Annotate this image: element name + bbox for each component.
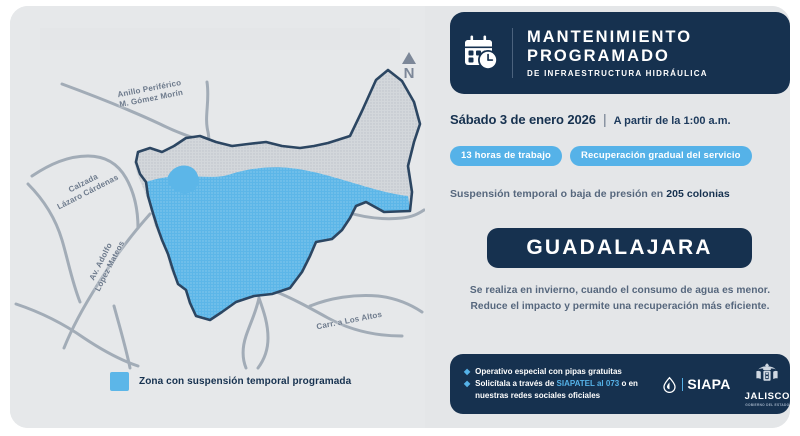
siapa-divider [682,378,684,391]
jalisco-coat-of-arms-icon [753,362,781,386]
header-title-line1: MANTENIMIENTO [527,28,708,46]
water-drop-icon [661,376,678,393]
bullet-icon: ◆ [464,366,470,377]
map-panel: Anillo Periférico M. Gómez Morín Calzada… [10,6,425,428]
header-title-line2: PROGRAMADO [527,47,708,65]
jalisco-subtitle: GOBIERNO DEL ESTADO [745,403,790,407]
impact-count: 205 colonias [666,188,730,200]
pill-gradual-recovery-label: Recuperación gradual del servicio [581,150,741,161]
footer-item-2-highlight[interactable]: SIAPATEL al 073 [557,379,620,388]
compass-label: N [397,66,421,81]
footer-item-2-text: Solicítala a través de SIAPATEL al 073 o… [475,378,657,400]
schedule-separator: | [603,111,607,127]
jalisco-logo: JALISCO GOBIERNO DEL ESTADO [745,362,790,407]
description-text: Se realiza en invierno, cuando el consum… [467,283,773,315]
north-arrow-icon [402,52,416,64]
legend-swatch-icon [110,372,129,391]
info-panel: MANTENIMIENTO PROGRAMADO DE INFRAESTRUCT… [425,6,790,428]
bullet-icon: ◆ [464,378,470,389]
footer-item-2-part-1: Solicítala a través de [475,379,556,388]
schedule-date: Sábado 3 de enero 2026 [450,112,596,127]
poster-root: Anillo Periférico M. Gómez Morín Calzada… [0,0,800,436]
footer-bullet-item-1: ◆ Operativo especial con pipas gratuitas [464,366,657,377]
schedule-start-time: A partir de la 1:00 a.m. [614,115,731,127]
impact-line: Suspensión temporal o baja de presión en… [450,188,790,200]
schedule-pills: 13 horas de trabajo Recuperación gradual… [450,146,790,166]
pill-gradual-recovery: Recuperación gradual del servicio [570,146,752,166]
pill-work-hours: 13 horas de trabajo [450,146,562,166]
jalisco-wordmark: JALISCO [745,392,790,402]
footer-logos: SIAPA [661,362,790,407]
header-title-group: MANTENIMIENTO PROGRAMADO DE INFRAESTRUCT… [513,28,708,78]
schedule-date-row: Sábado 3 de enero 2026 | A partir de la … [450,111,790,127]
footer-bullet-list: ◆ Operativo especial con pipas gratuitas… [450,366,657,401]
header-banner: MANTENIMIENTO PROGRAMADO DE INFRAESTRUCT… [450,12,790,94]
map-legend: Zona con suspensión temporal programada [110,372,351,391]
legend-label: Zona con suspensión temporal programada [139,376,351,387]
header-subtitle: DE INFRAESTRUCTURA HIDRÁULICA [527,69,708,78]
footer-bullet-item-2: ◆ Solicítala a través de SIAPATEL al 073… [464,378,657,400]
footer-item-1-text: Operativo especial con pipas gratuitas [475,366,622,377]
pill-work-hours-rest: de trabajo [501,150,551,161]
calendar-clock-icon [450,34,512,72]
pill-work-hours-strong: 13 horas [461,150,501,161]
footer-banner: ◆ Operativo especial con pipas gratuitas… [450,354,790,414]
city-banner: GUADALAJARA [487,228,752,268]
city-name: GUADALAJARA [526,236,712,260]
map-graphic [10,6,425,428]
siapa-wordmark: SIAPA [687,376,730,392]
compass-north-icon: N [397,52,421,81]
impact-prefix: Suspensión temporal o baja de presión en [450,188,666,200]
siapa-logo: SIAPA [661,376,731,393]
